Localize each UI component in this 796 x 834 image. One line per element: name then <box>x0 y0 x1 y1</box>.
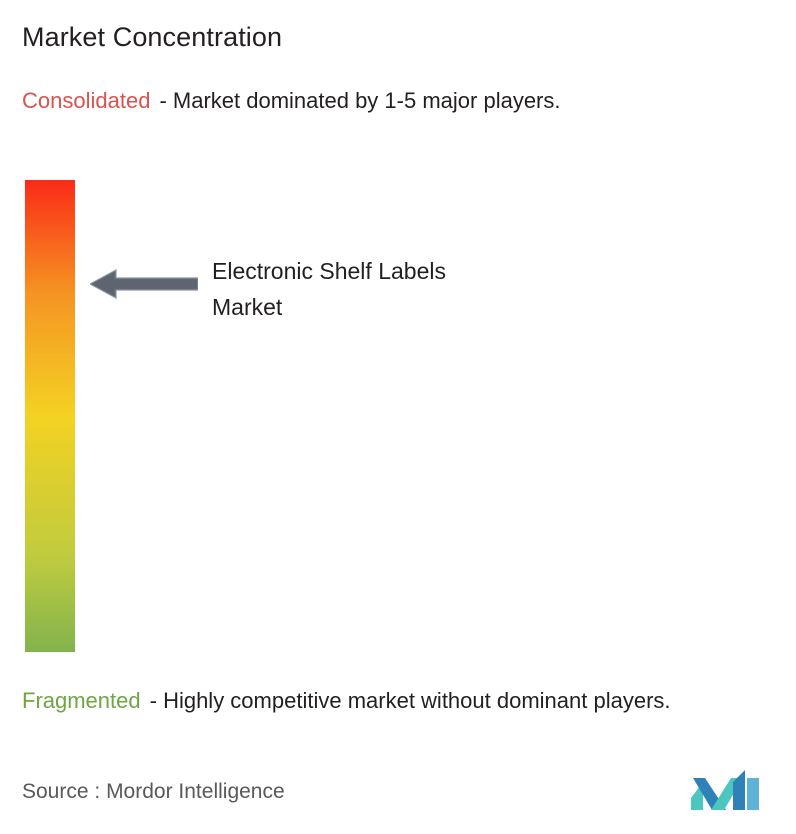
page-title: Market Concentration <box>22 20 282 54</box>
market-concentration-chart: Market Concentration Consolidated- Marke… <box>0 0 796 834</box>
legend-term-consolidated: Consolidated <box>22 88 150 113</box>
legend-term-fragmented: Fragmented <box>22 688 141 713</box>
source-label: Source : <box>22 780 100 803</box>
source-name: Mordor Intelligence <box>106 780 285 803</box>
source-attribution: Source : Mordor Intelligence <box>22 778 285 806</box>
callout-arrow-icon <box>90 268 198 300</box>
callout-label-line-1: Electronic Shelf Labels <box>212 253 612 289</box>
concentration-scale <box>25 180 75 652</box>
chart-footer: Source : Mordor Intelligence <box>0 778 796 834</box>
legend-description-consolidated: - Market dominated by 1-5 major players. <box>159 88 560 113</box>
gradient-scale-bar <box>25 180 75 652</box>
callout-label-line-2: Market <box>212 289 612 325</box>
mordor-intelligence-logo-icon <box>691 770 759 810</box>
legend-description-fragmented: - Highly competitive market without domi… <box>150 688 671 713</box>
callout-label: Electronic Shelf Labels Market <box>212 253 612 325</box>
legend-consolidated: Consolidated- Market dominated by 1-5 ma… <box>22 85 767 117</box>
legend-fragmented: Fragmented- Highly competitive market wi… <box>22 685 784 717</box>
